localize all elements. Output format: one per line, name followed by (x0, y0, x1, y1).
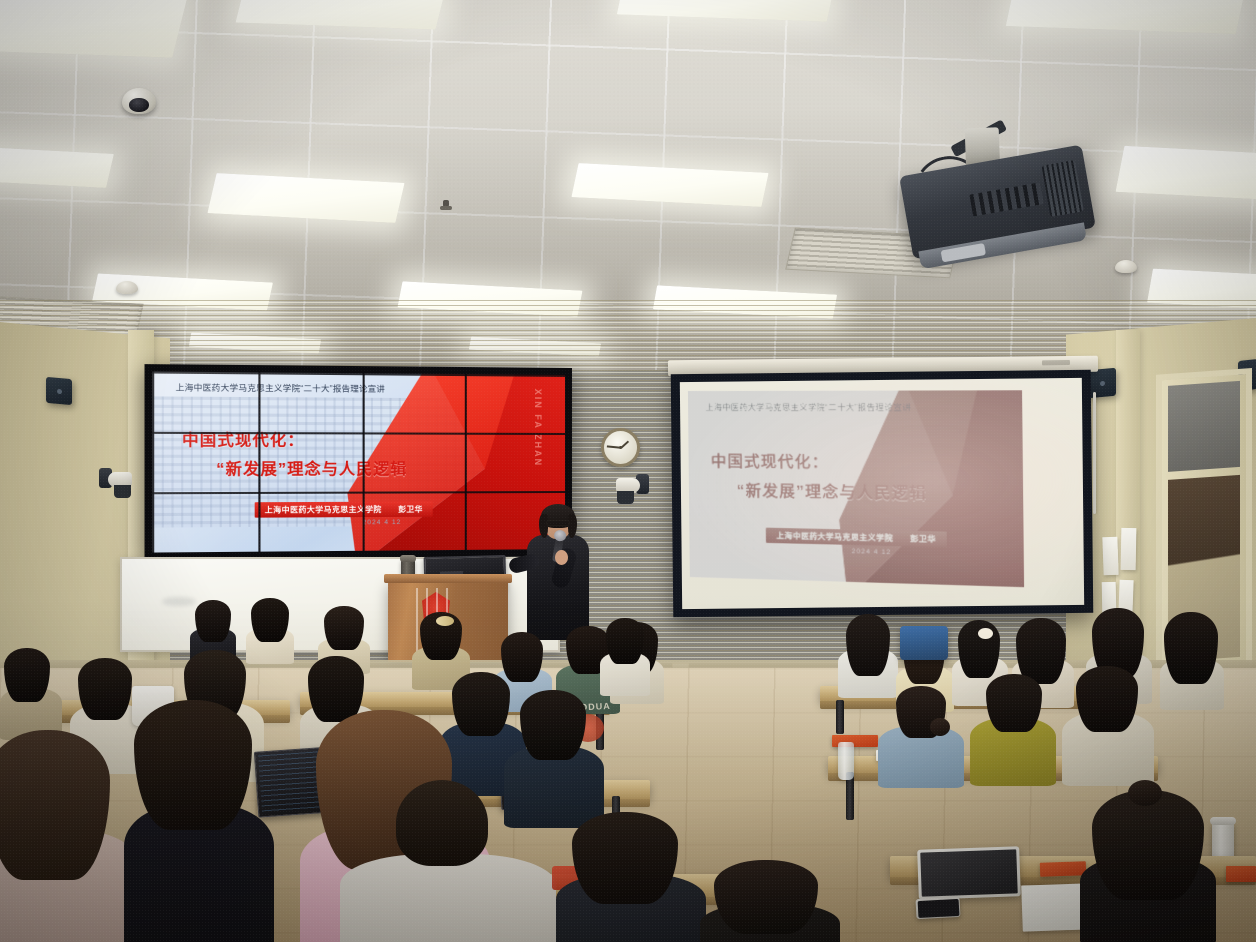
student-figure (1080, 790, 1216, 942)
wall-speaker-left (46, 377, 72, 405)
slide-title-line2: “新发展”理念与人民逻辑 (216, 457, 407, 480)
hair-bun (1128, 780, 1162, 806)
slide-footer-org: 上海中医药大学马克思主义学院 (265, 504, 382, 516)
slide-content-led: XIN FA ZHAN 上海中医药大学马克思主义学院“二十大”报告理论宣讲 中国… (152, 371, 565, 552)
student-hair (195, 600, 231, 642)
student-figure (700, 860, 840, 942)
hair-tie (978, 628, 993, 639)
student-figure (0, 740, 140, 942)
red-book (1226, 866, 1256, 882)
slide-title-line1: 中国式现代化： (711, 449, 829, 472)
door-glass-pane (1168, 381, 1240, 472)
slide-header-text: 上海中医药大学马克思主义学院“二十大”报告理论宣讲 (176, 382, 475, 396)
tablet (917, 846, 1021, 900)
wall-notice-paper (1121, 528, 1137, 570)
lecture-hall-photo: XIN FA ZHAN 上海中医药大学马克思主义学院“二十大”报告理论宣讲 中国… (0, 0, 1256, 942)
student-hair (251, 598, 289, 642)
video-wall-screen: XIN FA ZHAN 上海中医药大学马克思主义学院“二十大”报告理论宣讲 中国… (152, 371, 565, 552)
projector-vent (1041, 160, 1084, 217)
slide-watermark: XIN FA ZHAN (533, 389, 543, 467)
student-hair (958, 620, 1000, 678)
wall-clock (601, 428, 640, 467)
slide-title-line1: 中国式现代化： (182, 428, 305, 451)
student-figure (0, 648, 62, 734)
student-figure (124, 700, 274, 942)
dome-camera-icon (122, 88, 156, 114)
tablet-screen[interactable] (920, 849, 1017, 896)
slide-header-text: 上海中医药大学马克思主义学院“二十大”报告理论宣讲 (705, 402, 943, 414)
student-hair (134, 700, 252, 830)
clock-center-pin (619, 446, 622, 449)
student-figure (878, 686, 964, 782)
slide-footer-date: 2024 4 12 (852, 548, 892, 556)
student-hair (572, 812, 678, 904)
student-figure (340, 770, 556, 942)
phone-screen[interactable] (917, 898, 959, 917)
student-hair (308, 656, 364, 722)
student-figure (600, 618, 650, 688)
podium-top-surface (384, 574, 512, 583)
student-hair (1164, 612, 1218, 684)
student-body (340, 854, 556, 942)
smoke-detector-icon (116, 281, 138, 294)
projection-surface: 上海中医药大学马克思主义学院“二十大”报告理论宣讲 中国式现代化： “新发展”理… (680, 378, 1084, 609)
ceiling-light-panel (0, 146, 114, 188)
student-figure (190, 600, 236, 656)
student-figure (1160, 612, 1224, 706)
ceiling-light-panel (0, 0, 188, 58)
hair-bun (930, 718, 950, 736)
hair-clip (436, 616, 454, 626)
student-hair (1092, 790, 1204, 900)
presenter-hand (555, 550, 568, 565)
blind-pull-cord[interactable] (1093, 392, 1096, 514)
slide-footer-speaker: 彭卫华 (398, 504, 423, 515)
student-head (396, 780, 488, 866)
student-hair (520, 690, 586, 760)
sprinkler-head-icon (440, 200, 452, 214)
student-figure (838, 614, 898, 694)
student-hair (1076, 666, 1138, 732)
desk-leg (836, 700, 844, 734)
slide-footer-org: 上海中医药大学马克思主义学院 (776, 530, 893, 544)
projection-screen: 上海中医药大学马克思主义学院“二十大”报告理论宣讲 中国式现代化： “新发展”理… (671, 370, 1094, 617)
student-hair (986, 674, 1042, 732)
slide-title-line2: “新发展”理念与人民逻辑 (737, 479, 928, 504)
student-figure (556, 812, 706, 942)
slide-content-projected: 上海中医药大学马克思主义学院“二十大”报告理论宣讲 中国式现代化： “新发展”理… (688, 390, 1024, 587)
smoke-detector-icon (1115, 260, 1137, 273)
student-hair (606, 618, 644, 664)
student-hair (0, 730, 110, 880)
student-hair (846, 614, 890, 676)
ceiling-projector (899, 145, 1096, 260)
camera-mount-arm (114, 485, 131, 498)
chair-back (900, 626, 948, 660)
projected-slide: 上海中医药大学马克思主义学院“二十大”报告理论宣讲 中国式现代化： “新发展”理… (688, 390, 1024, 587)
led-video-wall: XIN FA ZHAN 上海中医药大学马克思主义学院“二十大”报告理论宣讲 中国… (145, 364, 572, 560)
presenter-glasses-icon (546, 520, 570, 526)
presenter-speaker (515, 508, 599, 640)
projector-ports (969, 182, 1044, 216)
presenter-hair-side-left (539, 514, 548, 538)
phone (916, 897, 961, 919)
student-figure (970, 676, 1056, 780)
wall-notice-paper (1102, 537, 1118, 576)
screen-brand-badge (1042, 360, 1070, 365)
camera-mount-arm (617, 491, 634, 504)
water-bottle (838, 742, 854, 780)
ceiling-light-panel (1116, 146, 1256, 200)
slide-footer-bar: 上海中医药大学马克思主义学院 彭卫华 (254, 502, 433, 518)
slide-footer-date: 2024 4 12 (363, 519, 402, 526)
student-hair (324, 606, 364, 650)
student-figure (1062, 666, 1154, 780)
student-hair (714, 860, 818, 934)
slide-footer-speaker: 彭卫华 (910, 533, 936, 545)
student-figure (246, 598, 294, 658)
student-hair (4, 648, 50, 702)
